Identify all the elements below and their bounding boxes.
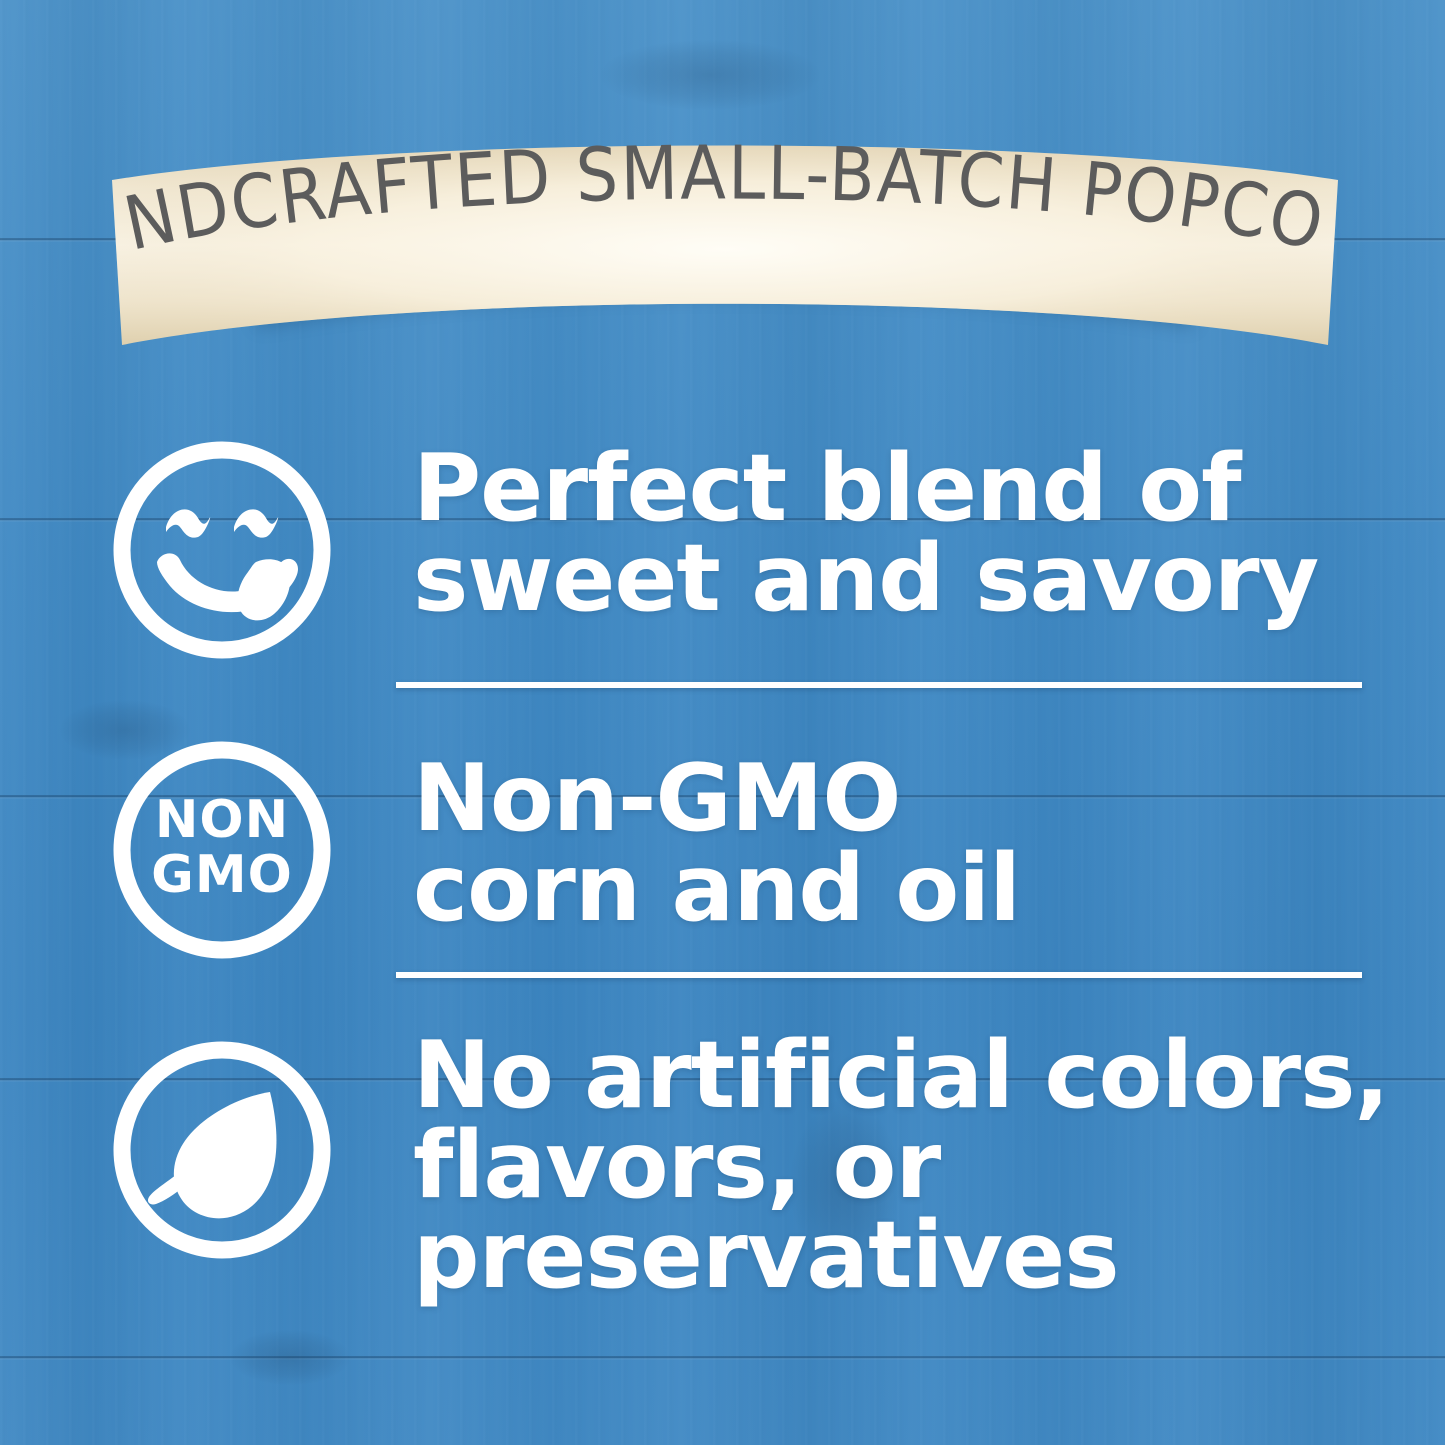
- divider: [396, 682, 1362, 688]
- feature-line: Perfect blend of: [413, 443, 1413, 533]
- feature-text-1: Perfect blend of sweet and savory: [413, 443, 1413, 623]
- feature-line: corn and oil: [413, 843, 1413, 933]
- yummy-smiley-face-icon: [106, 434, 338, 666]
- feature-text-3: No artificial colors, flavors, or preser…: [413, 1030, 1413, 1301]
- divider: [396, 972, 1362, 978]
- non-gmo-top-text: NON: [155, 790, 289, 850]
- feature-text-2: Non-GMO corn and oil: [413, 753, 1413, 933]
- feature-list: Perfect blend of sweet and savory NON GM…: [0, 0, 1445, 1445]
- feature-line: flavors, or: [413, 1120, 1413, 1210]
- non-gmo-badge-icon: NON GMO: [106, 734, 338, 966]
- non-gmo-bottom-text: GMO: [151, 845, 293, 905]
- feature-line: preservatives: [413, 1210, 1413, 1300]
- leaf-badge-icon: [106, 1034, 338, 1266]
- feature-line: Non-GMO: [413, 753, 1413, 843]
- feature-line: No artificial colors,: [413, 1030, 1413, 1120]
- product-feature-graphic: HANDCRAFTED SMALL-BATCH POPCORN Perfect …: [0, 0, 1445, 1445]
- feature-line: sweet and savory: [413, 533, 1413, 623]
